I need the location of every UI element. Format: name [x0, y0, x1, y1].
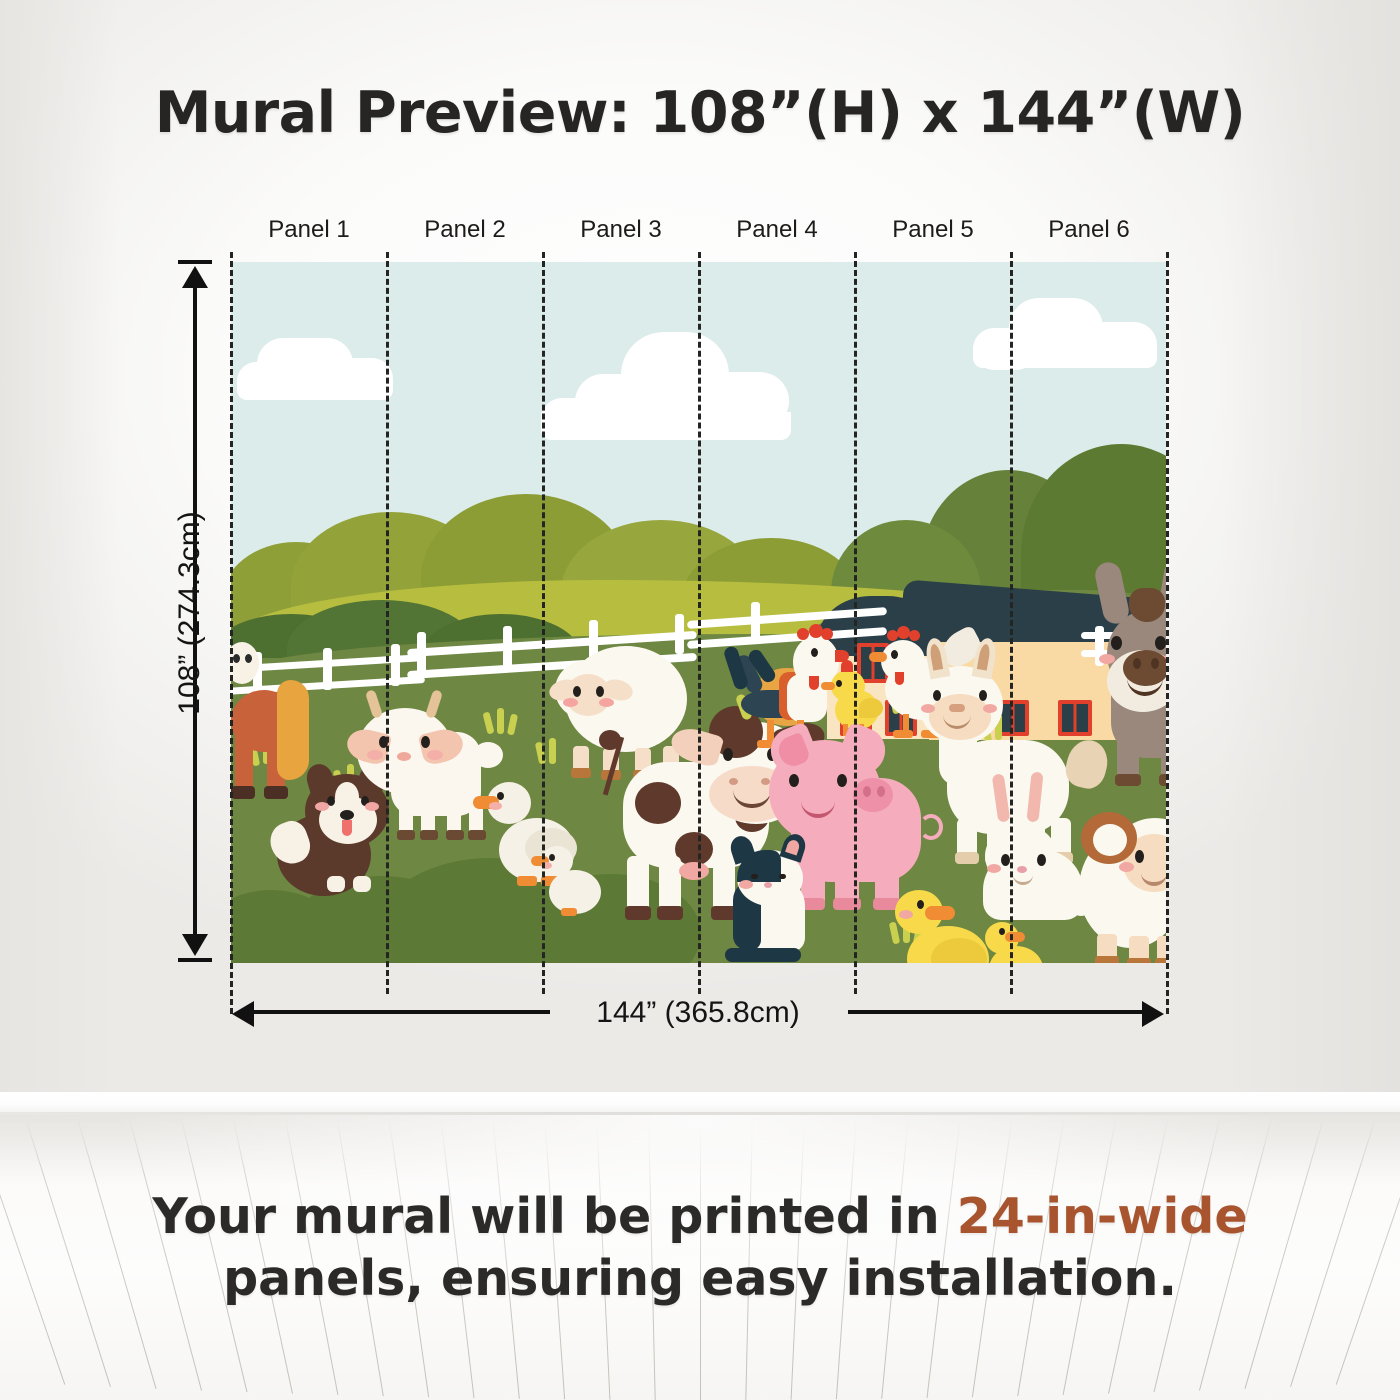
panel-divider-2	[542, 252, 545, 994]
footer-highlight: 24-in-wide	[957, 1188, 1248, 1245]
panel-label-2: Panel 2	[387, 216, 543, 244]
panel-divider-3	[698, 252, 701, 994]
panel-label-5: Panel 5	[855, 216, 1011, 244]
mural-preview-screenshot: Mural Preview: 108”(H) x 144”(W) Panel 1…	[0, 0, 1400, 1400]
panel-label-1: Panel 1	[231, 216, 387, 244]
footer-caption: Your mural will be printed in 24-in-wide…	[0, 1186, 1400, 1309]
wall-shadow-right	[1220, 0, 1400, 1108]
footer-line-2: panels, ensuring easy installation.	[0, 1248, 1400, 1310]
panel-divider-5	[1010, 252, 1013, 994]
panel-label-3: Panel 3	[543, 216, 699, 244]
panel-divider-1	[386, 252, 389, 994]
footer-line-1-prefix: Your mural will be printed in	[152, 1188, 956, 1245]
footer-line-1: Your mural will be printed in 24-in-wide	[0, 1186, 1400, 1248]
panel-label-4: Panel 4	[699, 216, 855, 244]
page-title: Mural Preview: 108”(H) x 144”(W)	[0, 80, 1400, 146]
panel-divider-0	[230, 252, 233, 1014]
panel-divider-4	[854, 252, 857, 994]
baseboard	[0, 1092, 1400, 1114]
wall-shadow-left	[0, 0, 120, 1108]
width-dimension-label: 144” (365.8cm)	[548, 996, 848, 1030]
panel-label-6: Panel 6	[1011, 216, 1167, 244]
height-dimension-label: 108” (274.3cm)	[173, 413, 207, 813]
panel-divider-6	[1166, 252, 1169, 1014]
